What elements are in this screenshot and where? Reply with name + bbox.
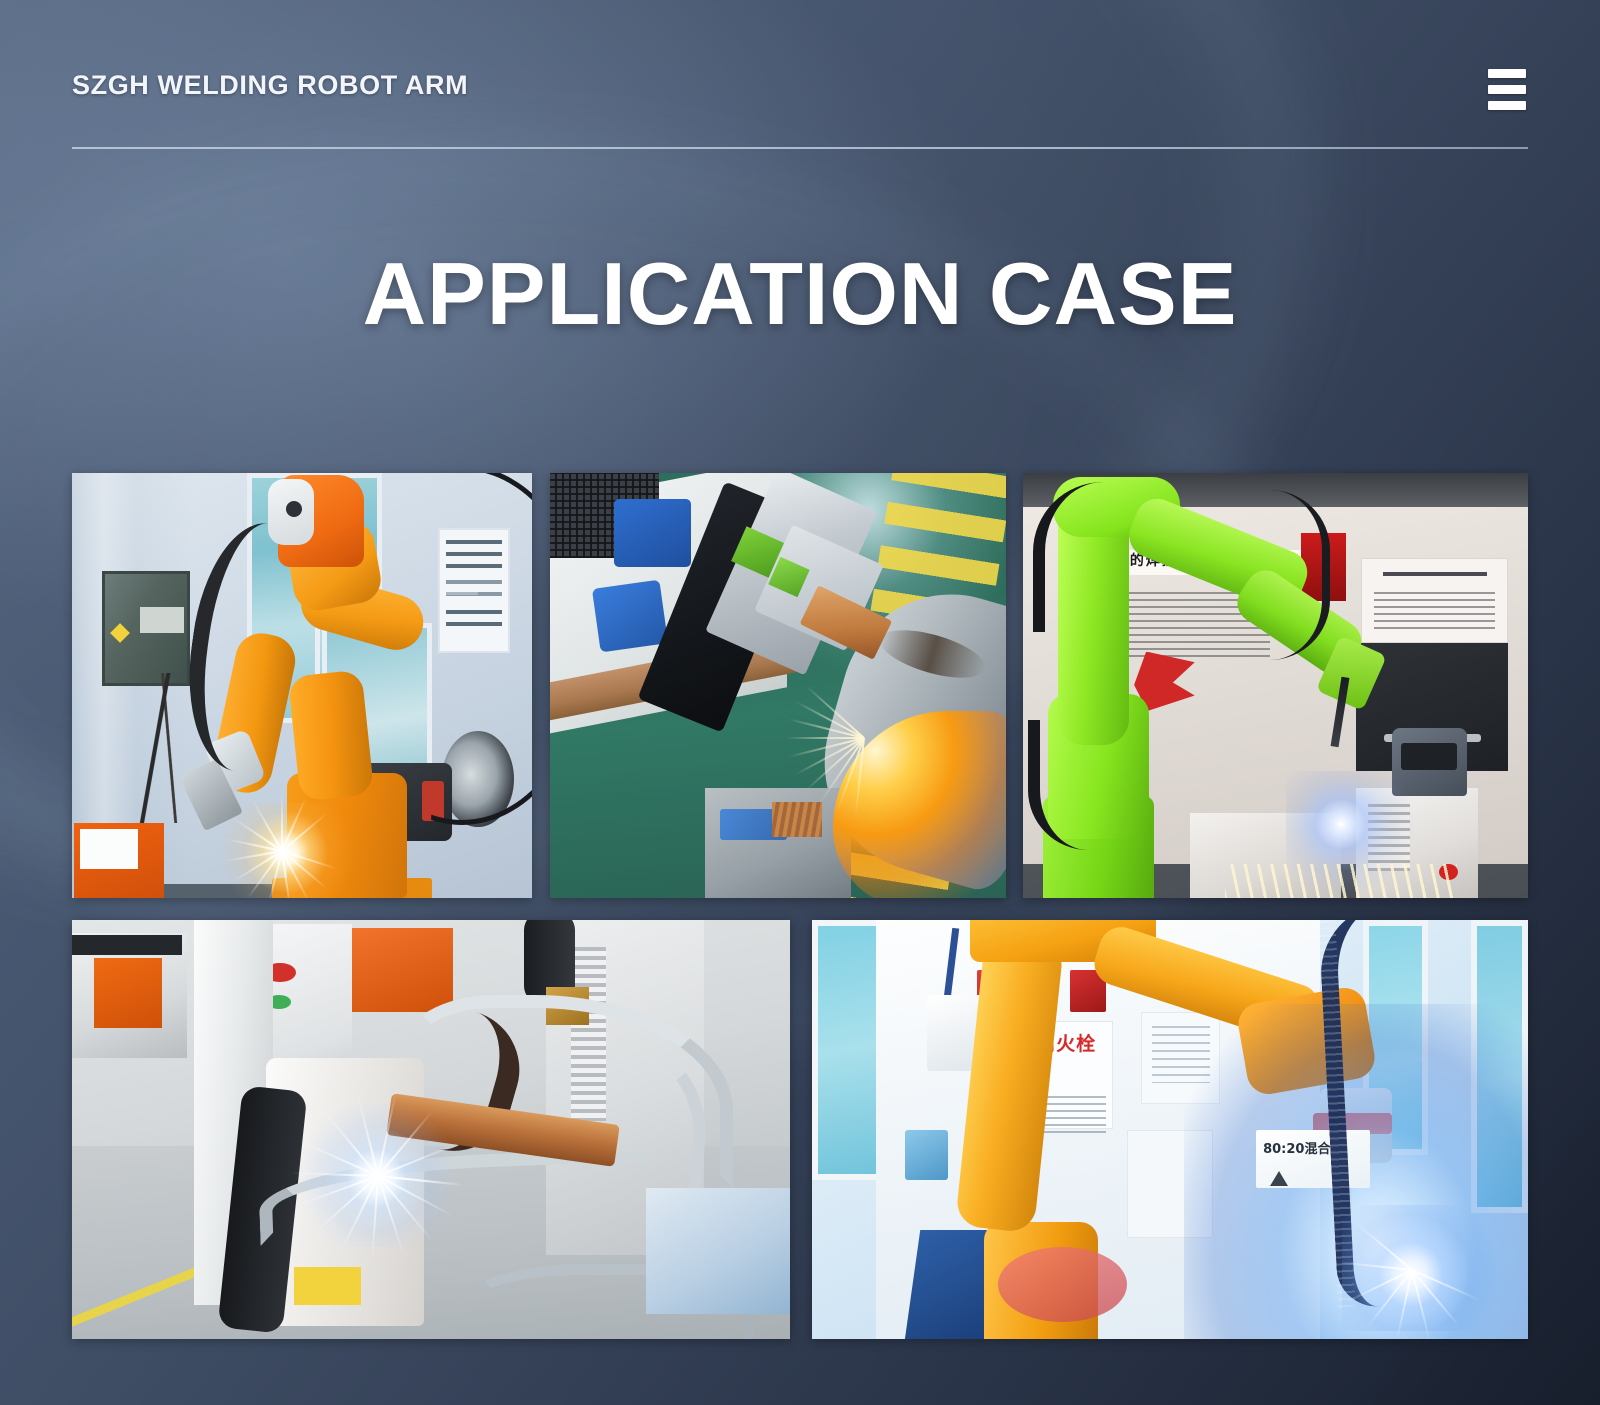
hamburger-bar-3 xyxy=(1488,101,1526,110)
hamburger-bar-2 xyxy=(1488,85,1526,94)
photo-orange-robot-welding xyxy=(72,473,532,898)
hamburger-bar-1 xyxy=(1488,69,1526,78)
gallery-item-case-5[interactable]: 消火栓 80:20混合 xyxy=(812,920,1528,1339)
weld-spark-fan xyxy=(833,711,1006,898)
photo-orange-robot-arc: 消火栓 80:20混合 xyxy=(812,920,1528,1339)
hamburger-menu-icon[interactable] xyxy=(1488,68,1528,110)
brand-title: SZGH WELDING ROBOT ARM xyxy=(72,70,468,101)
gallery-item-case-3[interactable]: 几的焊接工作站 xyxy=(1023,473,1528,898)
photo-tube-frame-welding xyxy=(72,920,790,1339)
photo-spot-weld-cylinder xyxy=(550,473,1006,898)
gallery-item-case-2[interactable] xyxy=(550,473,1006,898)
gallery-item-case-4[interactable] xyxy=(72,920,790,1339)
photo-green-robot-booth: 几的焊接工作站 xyxy=(1023,473,1528,898)
application-case-gallery: 几的焊接工作站 xyxy=(72,473,1528,1339)
weld-arc-glow xyxy=(1342,1205,1514,1331)
page-title: APPLICATION CASE xyxy=(0,250,1600,338)
page-header: SZGH WELDING ROBOT ARM xyxy=(72,62,1528,152)
header-divider xyxy=(72,147,1528,149)
warning-triangle-icon xyxy=(1270,1171,1288,1186)
weld-spark-burst xyxy=(287,1104,474,1246)
weld-spark-burst xyxy=(182,803,372,898)
gallery-item-case-1[interactable] xyxy=(72,473,532,898)
slide-canvas: SZGH WELDING ROBOT ARM APPLICATION CASE xyxy=(0,0,1600,1405)
